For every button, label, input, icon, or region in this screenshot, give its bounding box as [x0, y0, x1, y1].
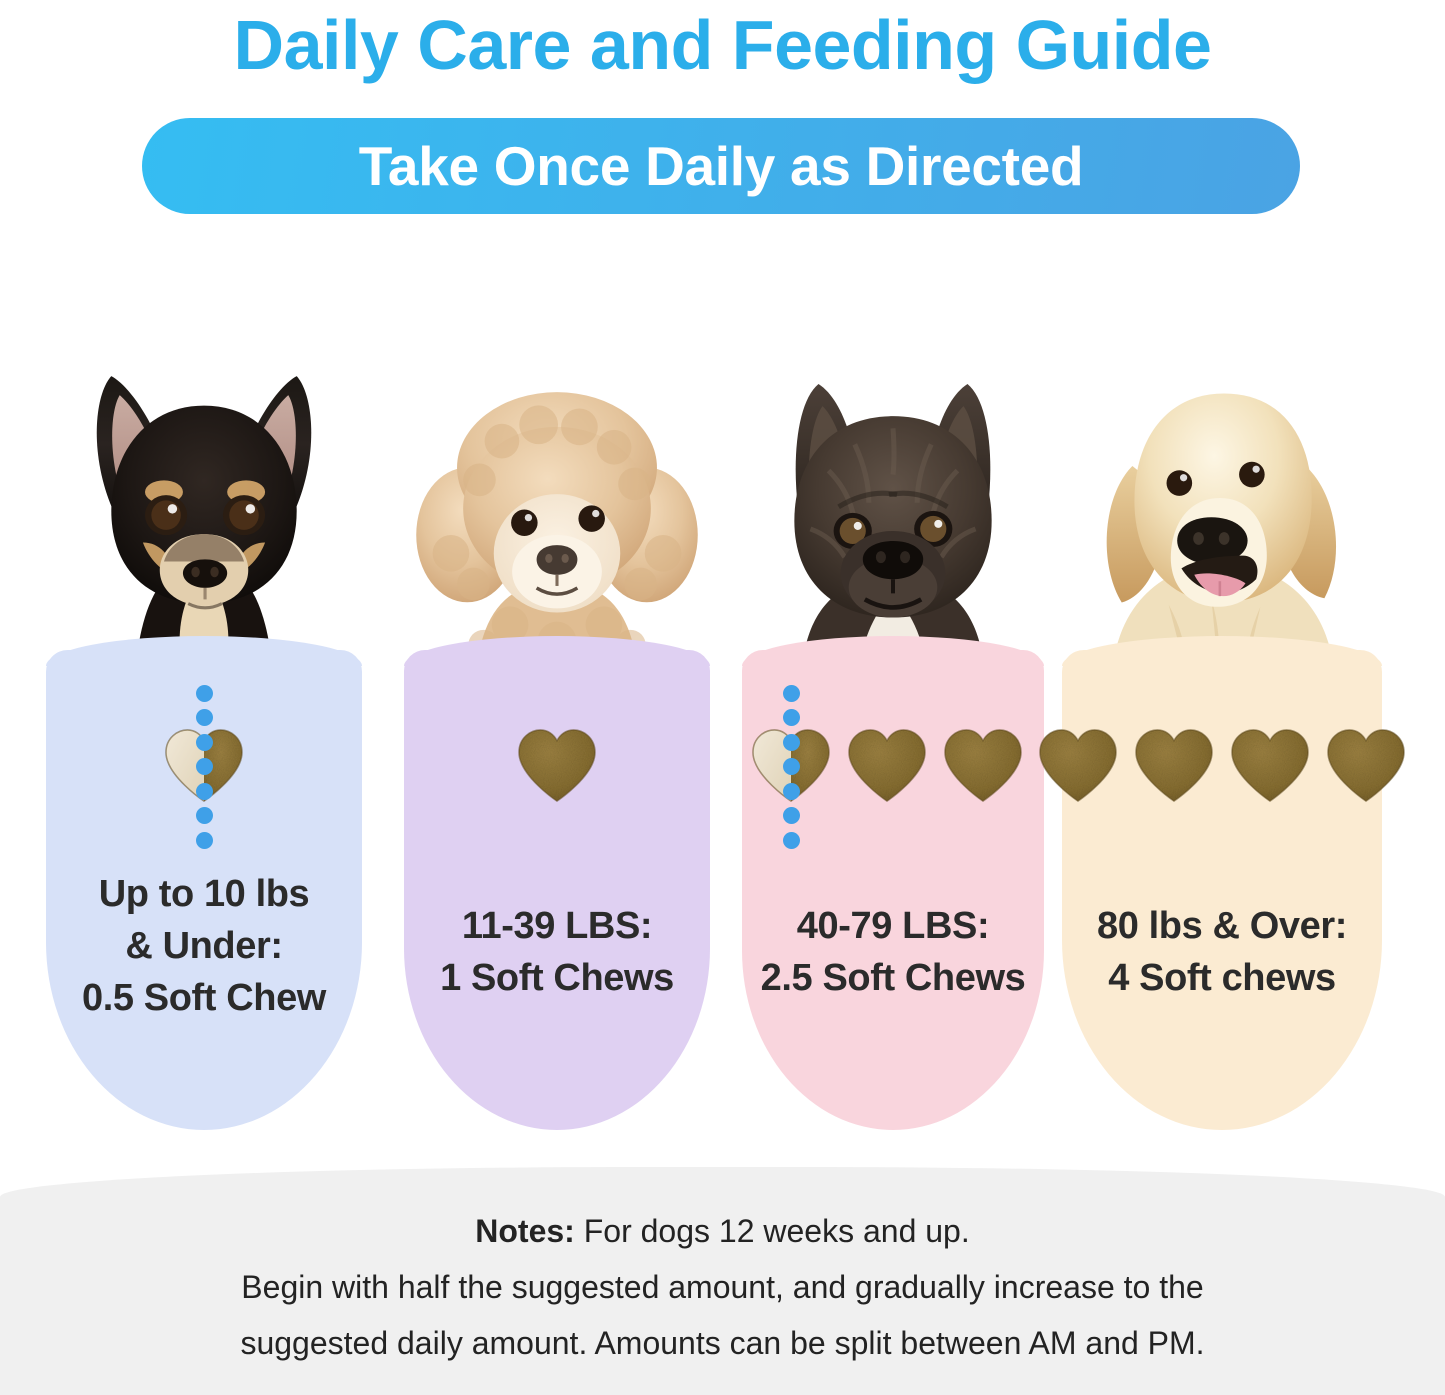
full-chew-icon: [514, 727, 600, 805]
page-title: Daily Care and Feeding Guide: [0, 2, 1445, 88]
dosage-label-line: 1 Soft Chews: [404, 952, 710, 1004]
dog-photo-chihuahua: [46, 300, 362, 690]
dotted-line-dot: [196, 709, 213, 726]
dotted-line-dot: [196, 783, 213, 800]
dotted-line-dot: [783, 758, 800, 775]
notes-line-1-rest: For dogs 12 weeks and up.: [575, 1213, 970, 1249]
chew-icon-group: [46, 698, 362, 833]
dotted-line-dot: [196, 807, 213, 824]
card-40-79-lbs: 40-79 LBS:2.5 Soft Chews: [742, 300, 1044, 1130]
dotted-line-dot: [196, 685, 213, 702]
card-up-to-10-lbs: Up to 10 lbs& Under:0.5 Soft Chew: [46, 300, 362, 1130]
directions-banner: Take Once Daily as Directed: [142, 118, 1300, 214]
card-11-39-lbs: 11-39 LBS:1 Soft Chews: [404, 300, 710, 1130]
dosage-label-line: 80 lbs & Over:: [1062, 900, 1382, 952]
dosage-label: 11-39 LBS:1 Soft Chews: [404, 900, 710, 1004]
dosage-label-line: 2.5 Soft Chews: [742, 952, 1044, 1004]
feeding-guide-infographic: Daily Care and Feeding Guide Take Once D…: [0, 0, 1445, 1395]
dog-photo-golden-retriever: [1062, 300, 1382, 690]
half-chew-icon: [161, 727, 247, 805]
card-80-lbs-over: 80 lbs & Over:4 Soft chews: [1062, 300, 1382, 1130]
dog-portrait-french-bulldog: [742, 300, 1044, 690]
dotted-line-dot: [783, 807, 800, 824]
chew-icon-group: [1062, 698, 1382, 833]
dosage-label-line: & Under:: [46, 920, 362, 972]
half-dose-dotted-line: [195, 685, 213, 849]
dog-photo-french-bulldog: [742, 300, 1044, 690]
notes-line-1: Notes: For dogs 12 weeks and up.: [0, 1203, 1445, 1259]
full-chew-icon: [1035, 727, 1121, 805]
full-chew-icon: [1227, 727, 1313, 805]
full-chew-icon: [1323, 727, 1409, 805]
dosage-card-row: Up to 10 lbs& Under:0.5 Soft Chew: [0, 300, 1445, 1130]
dog-photo-toy-poodle: [404, 300, 710, 690]
dotted-line-dot: [783, 734, 800, 751]
dosage-label-line: 4 Soft chews: [1062, 952, 1382, 1004]
directions-banner-label: Take Once Daily as Directed: [359, 118, 1084, 214]
half-dose-dotted-line: [782, 685, 800, 849]
dosage-panel: 11-39 LBS:1 Soft Chews: [404, 650, 710, 1130]
dotted-line-dot: [196, 832, 213, 849]
full-chew-icon: [1131, 727, 1217, 805]
dog-portrait-chihuahua: [46, 300, 362, 690]
notes-label: Notes:: [475, 1213, 575, 1249]
dosage-panel: Up to 10 lbs& Under:0.5 Soft Chew: [46, 650, 362, 1130]
dog-portrait-toy-poodle: [404, 300, 710, 690]
dosage-label-line: 11-39 LBS:: [404, 900, 710, 952]
chew-icon-group: [742, 698, 1044, 833]
dosage-panel: 40-79 LBS:2.5 Soft Chews: [742, 650, 1044, 1130]
half-chew-icon: [748, 727, 834, 805]
dotted-line-dot: [783, 709, 800, 726]
dotted-line-dot: [783, 832, 800, 849]
dosage-panel: 80 lbs & Over:4 Soft chews: [1062, 650, 1382, 1130]
notes-line-2: Begin with half the suggested amount, an…: [0, 1259, 1445, 1315]
full-chew-icon: [844, 727, 930, 805]
dotted-line-dot: [196, 734, 213, 751]
full-chew-icon: [940, 727, 1026, 805]
dosage-label-line: Up to 10 lbs: [46, 868, 362, 920]
dotted-line-dot: [196, 758, 213, 775]
notes-text-block: Notes: For dogs 12 weeks and up. Begin w…: [0, 1203, 1445, 1371]
dosage-label: Up to 10 lbs& Under:0.5 Soft Chew: [46, 868, 362, 1024]
dosage-label-line: 40-79 LBS:: [742, 900, 1044, 952]
dotted-line-dot: [783, 783, 800, 800]
dosage-label: 40-79 LBS:2.5 Soft Chews: [742, 900, 1044, 1004]
notes-panel: Notes: For dogs 12 weeks and up. Begin w…: [0, 1167, 1445, 1395]
dosage-label: 80 lbs & Over:4 Soft chews: [1062, 900, 1382, 1004]
dog-portrait-golden-retriever: [1062, 300, 1382, 690]
dosage-label-line: 0.5 Soft Chew: [46, 972, 362, 1024]
notes-line-3: suggested daily amount. Amounts can be s…: [0, 1315, 1445, 1371]
dotted-line-dot: [783, 685, 800, 702]
chew-icon-group: [404, 698, 710, 833]
